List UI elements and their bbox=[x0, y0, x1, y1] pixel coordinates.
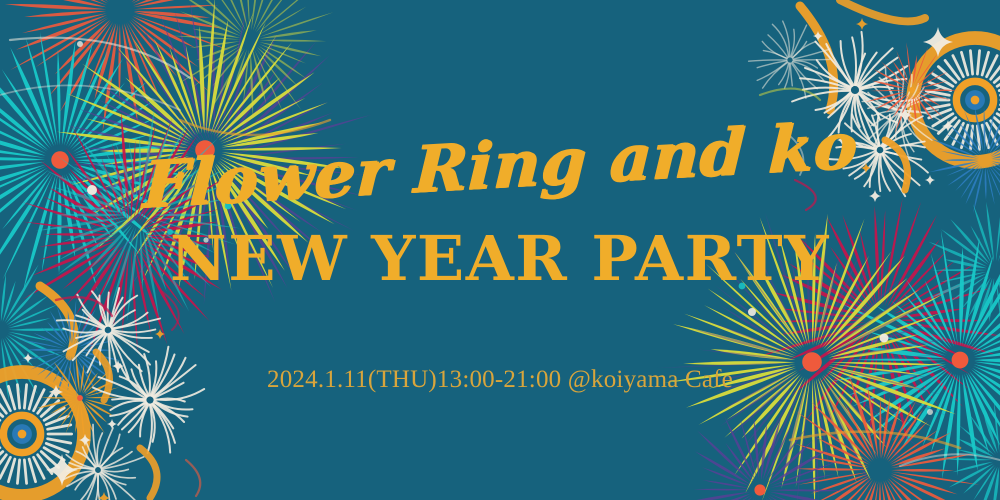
page-title: NEW YEAR PARTY bbox=[0, 228, 1000, 290]
poster-content: Flower Ring and ko NEW YEAR PARTY 2024.1… bbox=[0, 0, 1000, 500]
new-year-party-poster: Flower Ring and ko NEW YEAR PARTY 2024.1… bbox=[0, 0, 1000, 500]
script-title: Flower Ring and ko bbox=[0, 100, 1000, 231]
event-details: 2024.1.11(THU)13:00-21:00 @koiyama Cafe bbox=[0, 366, 1000, 394]
